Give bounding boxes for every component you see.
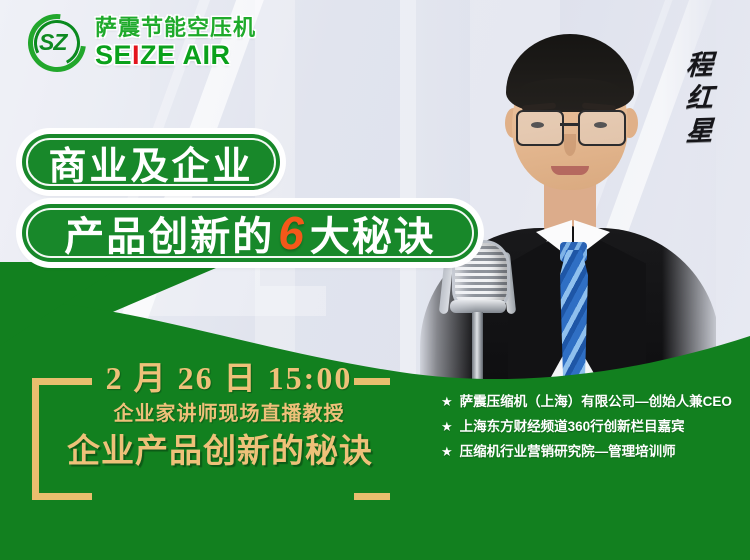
- title-pill-line1: 商业及企业: [22, 134, 280, 190]
- promo-poster: SZ 萨震节能空压机 SEIZE AIR 程 红 星 商业及企业 产品创新的6大…: [0, 0, 750, 560]
- speaker-name-char-2: 红: [685, 85, 713, 113]
- bracket-right-bottom-arm: [354, 493, 390, 500]
- title-line2-prefix: 产品创新的: [64, 204, 274, 262]
- credential-text: 萨震压缩机（上海）有限公司—创始人兼CEO: [460, 394, 732, 411]
- brand-en-part-b: ZE AIR: [140, 40, 231, 70]
- star-icon: ★: [441, 444, 453, 460]
- bracket-left-bottom-arm: [32, 493, 92, 500]
- brand-name-cn: 萨震节能空压机: [95, 17, 256, 39]
- list-item: ★ 萨震压缩机（上海）有限公司—创始人兼CEO: [441, 394, 741, 411]
- brand-logo-text: 萨震节能空压机 SEIZE AIR: [95, 17, 256, 69]
- star-icon: ★: [441, 419, 453, 435]
- speaker-name-char-1: 程: [685, 52, 713, 80]
- background-block: [96, 286, 326, 316]
- credential-text: 上海东方财经频道360行创新栏目嘉宾: [460, 419, 685, 436]
- event-info-band: 2 月 26 日 15:00 企业家讲师现场直播教授 企业产品创新的秘诀 ★ 萨…: [0, 340, 750, 560]
- speaker-name-vertical: 程 红 星: [679, 52, 719, 145]
- title-pill-line2: 产品创新的6大秘诀: [22, 204, 478, 262]
- brand-en-letter-i: I: [132, 40, 140, 70]
- brand-name-en: SEIZE AIR: [95, 42, 256, 69]
- brand-logo: SZ 萨震节能空压机 SEIZE AIR: [28, 14, 256, 72]
- speaker-credentials-list: ★ 萨震压缩机（上海）有限公司—创始人兼CEO ★ 上海东方财经频道360行创新…: [441, 394, 741, 469]
- credential-text: 压缩机行业营销研究院—管理培训师: [460, 444, 676, 461]
- speaker-name-char-3: 星: [685, 118, 713, 146]
- event-datetime: 2 月 26 日 15:00: [84, 362, 374, 394]
- brand-en-part-a: SE: [95, 40, 132, 70]
- event-subtitle: 企业家讲师现场直播教授: [84, 404, 374, 424]
- bracket-left-vertical: [32, 378, 39, 500]
- event-headline: 企业产品创新的秘诀: [50, 436, 390, 469]
- title-line1-text: 商业及企业: [48, 135, 253, 190]
- list-item: ★ 上海东方财经频道360行创新栏目嘉宾: [441, 419, 741, 436]
- star-icon: ★: [441, 394, 453, 410]
- title-highlight-number: 6: [274, 206, 310, 260]
- seize-air-logo-icon: SZ: [28, 14, 86, 72]
- bracket-left-top-arm: [32, 378, 92, 385]
- logo-monogram: SZ: [39, 31, 66, 54]
- title-line2-suffix: 大秘诀: [310, 204, 436, 262]
- list-item: ★ 压缩机行业营销研究院—管理培训师: [441, 444, 741, 461]
